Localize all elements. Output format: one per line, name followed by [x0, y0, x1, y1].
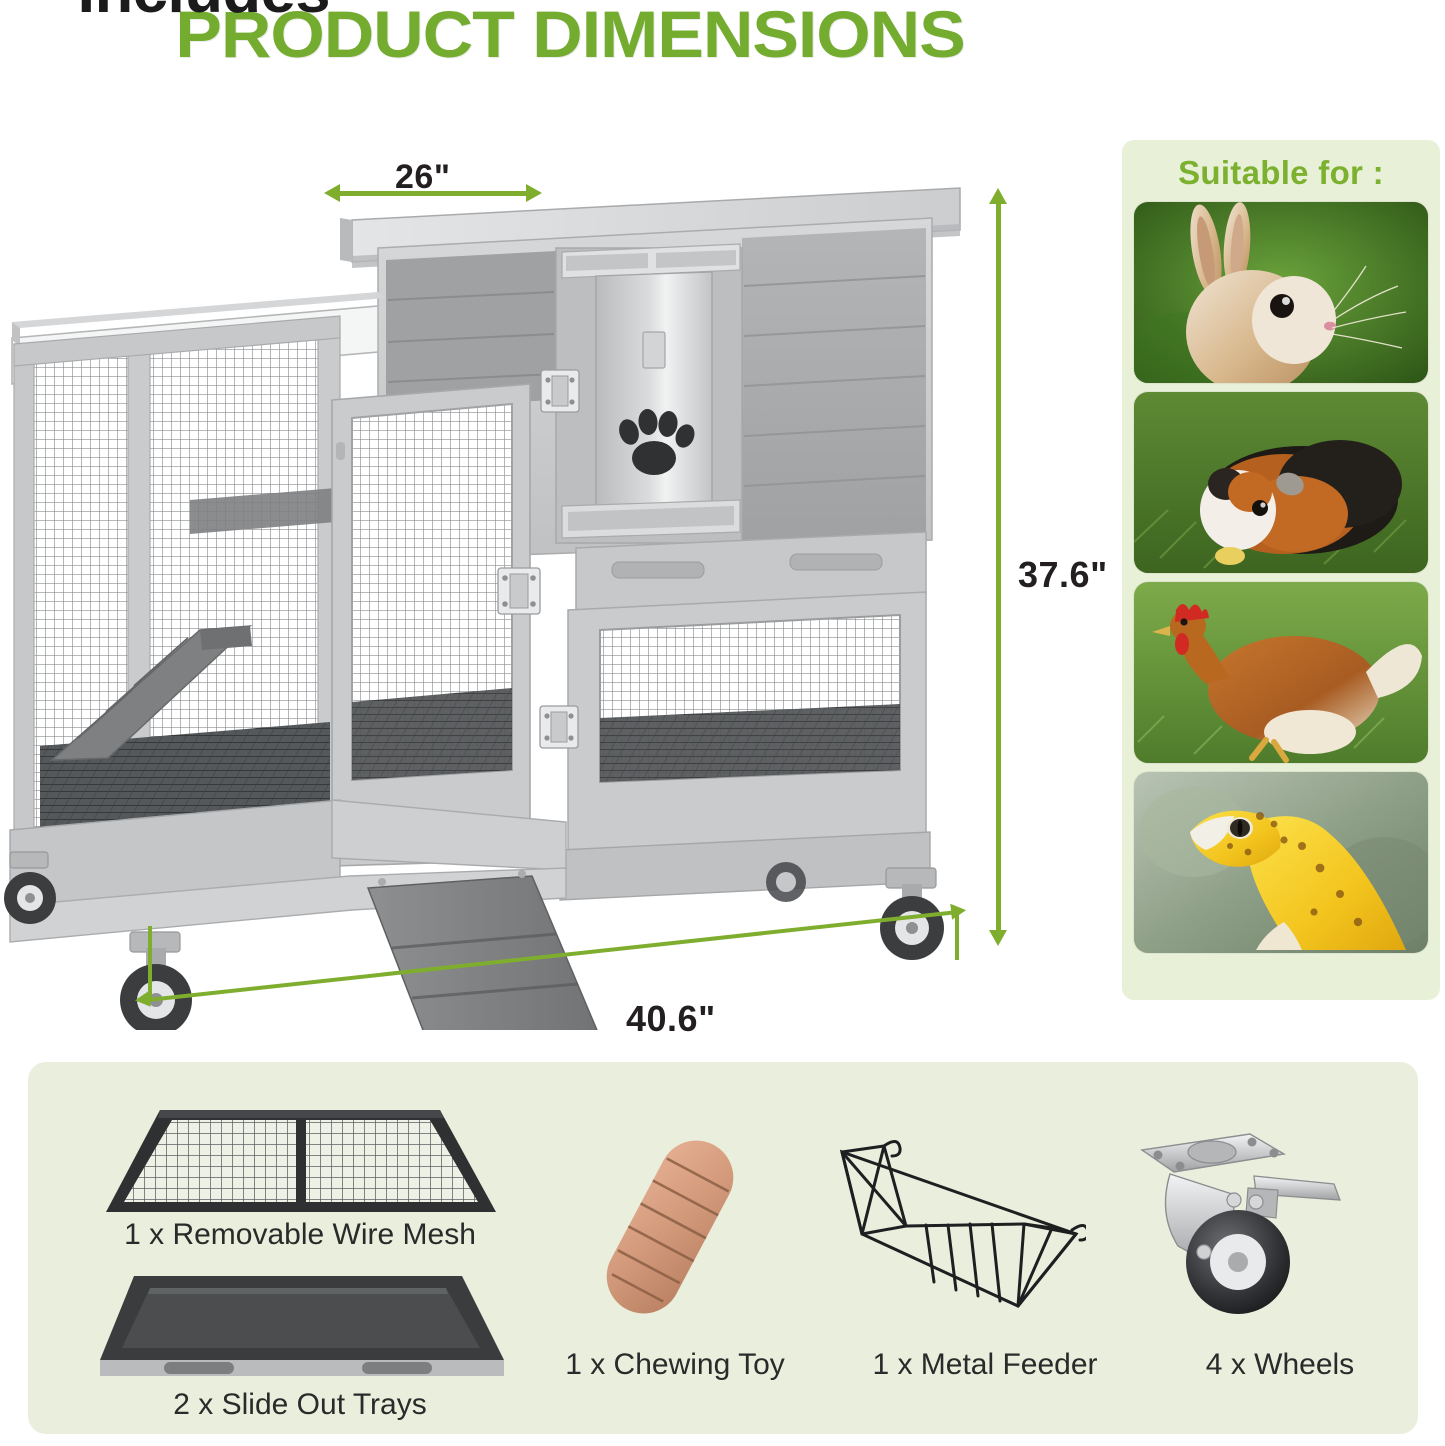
- run-door-hinge: [498, 568, 540, 614]
- caster-wheel-back-left: [4, 852, 56, 924]
- height-label: 37.6": [1018, 554, 1108, 596]
- photo-rabbit: [1134, 202, 1428, 383]
- door-hinge-lower: [540, 706, 578, 748]
- includes-label-feeder: 1 x Metal Feeder: [830, 1348, 1140, 1382]
- photo-chicken: [1134, 582, 1428, 763]
- suitable-for-panel: Suitable for :: [1122, 140, 1440, 1000]
- chewing-toy-art: [585, 1120, 755, 1335]
- height-arrow: [996, 202, 1001, 932]
- caster-wheel-back-right: [766, 862, 806, 902]
- suitable-for-title: Suitable for :: [1134, 150, 1428, 202]
- slide-out-trays-art: [90, 1268, 510, 1390]
- includes-label-mesh: 1 x Removable Wire Mesh: [60, 1218, 540, 1252]
- door-hinge-upper: [541, 370, 579, 412]
- removable-wire-mesh-art: [100, 1100, 500, 1225]
- includes-label-trays: 2 x Slide Out Trays: [60, 1388, 540, 1422]
- includes-label-toy: 1 x Chewing Toy: [520, 1348, 830, 1382]
- caster-wheel-front-left: [120, 932, 192, 1030]
- photo-gecko: [1134, 772, 1428, 953]
- metal-feeder-art: [828, 1138, 1086, 1328]
- includes-label-wheels: 4 x Wheels: [1140, 1348, 1420, 1382]
- photo-guinea-pig: [1134, 392, 1428, 573]
- includes-title: Includes: [78, 0, 330, 27]
- rabbit-hutch-illustration: [0, 70, 1060, 1030]
- product-dimension-diagram: 26" 37.6" 40.6": [0, 70, 1060, 1030]
- width-top-label: 26": [395, 158, 450, 197]
- width-bottom-label: 40.6": [626, 998, 716, 1040]
- wheels-art: [1128, 1128, 1358, 1328]
